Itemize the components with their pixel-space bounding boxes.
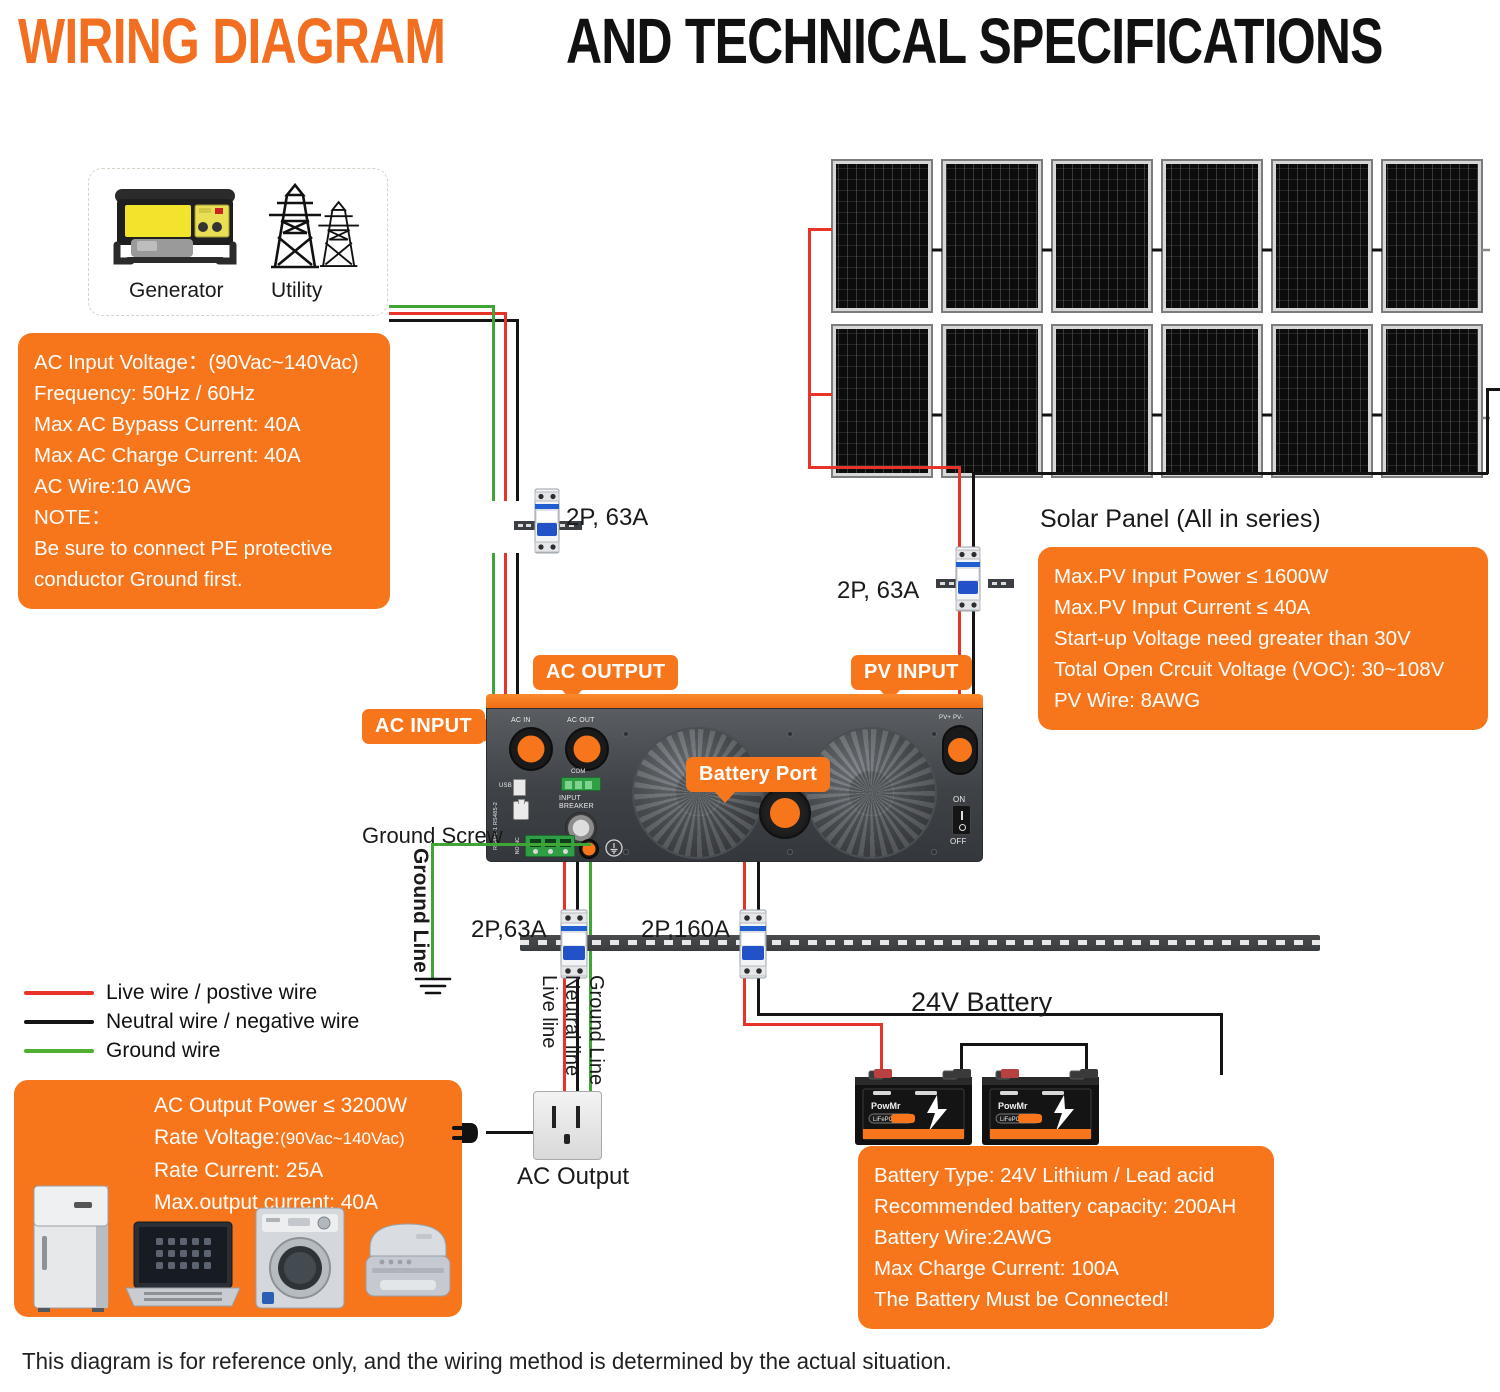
pv-spec-line-0: Max.PV Input Power ≤ 1600W [1054,561,1472,592]
legend-swatch-ground [24,1049,94,1053]
callout-ac-output: AC OUTPUT [533,655,678,690]
callout-pv-input-label: PV INPUT [864,661,959,683]
ac-output-spec-rate-voltage-label: Rate Voltage: [154,1126,280,1149]
solar-panel-array [830,158,1490,488]
svg-text:PowMr: PowMr [998,1101,1028,1111]
port-battery[interactable] [759,787,811,839]
ac-input-spec-line-0: AC Input Voltage：(90Vac~140Vac) [34,347,374,378]
ac-input-spec-line-5: NOTE： [34,502,374,533]
ac-input-spec-line-7: conductor Ground first. [34,564,374,595]
callout-pv-input: PV INPUT [851,655,972,690]
ac-output-socket[interactable] [533,1091,602,1160]
ac-input-spec-box: AC Input Voltage：(90Vac~140Vac) Frequenc… [18,333,390,609]
callout-ac-input: AC INPUT [362,709,485,744]
wire-ground-source [389,305,495,308]
battery-bank-label: 24V Battery [911,987,1052,1018]
ac-input-spec-line-4: AC Wire:10 AWG [34,471,374,502]
wire-pv-neg-drop [972,472,975,551]
wire-pv-neg-run [972,472,1488,475]
laptop-icon [122,1220,244,1312]
ground-screw-port[interactable] [579,839,599,859]
breaker-pv-label: 2P, 63A [837,577,919,605]
rs485-port-icon[interactable] [513,801,529,820]
ac-output-spec-line-0: AC Output Power ≤ 3200W [154,1090,407,1122]
legend-label-neutral: Neutral wire / negative wire [106,1010,359,1034]
wire-pv-pos-tap2 [808,393,832,396]
utility-label: Utility [271,279,322,303]
battery-terminal-link-1 [953,1069,971,1078]
port-ac-out[interactable] [565,727,609,771]
callout-ac-input-label: AC INPUT [375,715,472,737]
legend-row: Neutral wire / negative wire [24,1007,359,1036]
ac-output-spec-line-2: Rate Current: 25A [154,1155,407,1187]
generator-icon [111,183,239,269]
wire-pv-pos-bus [808,228,811,468]
ac-input-spec-line-6: Be sure to connect PE protective [34,533,374,564]
wire-battery-series [960,1043,1088,1046]
refrigerator-icon [30,1184,112,1312]
com-terminal[interactable] [561,777,601,791]
wire-batt-pos-drop [880,1023,883,1075]
legend-swatch-live [24,991,94,995]
pv-spec-box: Max.PV Input Power ≤ 1600W Max.PV Input … [1038,547,1488,730]
page-title: WIRING DIAGRAM AND TECHNICAL SPECIFICATI… [18,2,1488,80]
wire-ground-drop [492,305,495,501]
wire-neutral-source [389,319,519,322]
ac-output-spec-box: AC Output Power ≤ 3200W Rate Voltage:(90… [14,1080,462,1317]
port-ac-in-label: AC IN [511,717,531,724]
breaker-ac-output[interactable] [541,908,605,985]
pv-spec-line-2: Start-up Voltage need greater than 30V [1054,623,1472,654]
ac-input-spec-line-2: Max AC Bypass Current: 40A [34,409,374,440]
pv-spec-line-3: Total Open Crcuit Voltage (VOC): 30~108V [1054,654,1472,685]
battery-terminal-negative [1080,1069,1098,1078]
page-title-highlight: WIRING DIAGRAM [18,9,445,73]
usb-label: USB [499,783,512,789]
wire-batt-pos-run [743,1023,883,1026]
pv-terminal-label: PV+ PV- [939,715,963,721]
earth-ground-icon [605,839,623,857]
wire-neutral-drop [516,319,519,501]
battery-spec-line-3: Max Charge Current: 100A [874,1253,1258,1284]
disclaimer-text: This diagram is for reference only, and … [22,1348,952,1375]
callout-ac-output-label: AC OUTPUT [546,661,665,683]
svg-text:PowMr: PowMr [871,1101,901,1111]
relay-terminal-block[interactable] [525,835,575,857]
solar-panel-heading: Solar Panel (All in series) [1040,505,1321,534]
battery-spec-box: Battery Type: 24V Lithium / Lead acid Re… [858,1146,1274,1329]
ground-line-right-label: Ground Line [584,975,607,1085]
legend-row: Ground wire [24,1036,359,1065]
page-title-rest: AND TECHNICAL SPECIFICATIONS [566,9,1383,73]
earth-symbol-icon [410,975,456,1001]
port-ac-in[interactable] [509,727,553,771]
plug-icon [452,1119,486,1147]
ground-line-left-label: Ground Line [408,848,432,973]
switch-off-label: OFF [950,837,967,846]
wire-pv-pos-drop [958,466,961,551]
callout-battery-port-label: Battery Port [699,763,817,785]
port-pv[interactable] [942,725,978,775]
neutral-line-label: Neutral line [560,975,583,1076]
breaker-ac-main-label: 2P, 63A [566,504,648,532]
battery-spec-line-4: The Battery Must be Connected! [874,1284,1258,1315]
ac-input-spec-line-3: Max AC Charge Current: 40A [34,440,374,471]
legend-row: Live wire / postive wire [24,978,359,1007]
wire-pv-pos-tap1 [808,228,832,231]
cooling-fan-left [632,727,764,859]
breaker-battery-label: 2P,160A [641,916,730,944]
rice-cooker-icon [358,1212,458,1312]
callout-battery-port: Battery Port [686,757,830,792]
breaker-pv[interactable] [930,545,1040,620]
ac-output-socket-label: AC Output [517,1163,629,1191]
battery-spec-line-0: Battery Type: 24V Lithium / Lead acid [874,1160,1258,1191]
breaker-ac-output-label: 2P,63A [471,916,547,944]
wire-legend: Live wire / postive wire Neutral wire / … [24,978,359,1065]
wire-ground-screw-run [431,843,591,846]
utility-tower-icon [257,181,367,271]
cooling-fan-right [805,727,937,859]
power-switch[interactable] [952,805,971,835]
battery-unit-2: PowMr LiFePO4 [980,1069,1101,1147]
battery-terminal-link-2 [1001,1069,1019,1078]
wire-pv-neg-bus [1486,388,1489,474]
din-rail [520,935,1320,951]
wire-live-drop [504,312,507,501]
wire-pv-pos-run [808,466,960,469]
battery-unit-1: PowMr LiFePO4 [853,1069,974,1147]
legend-label-live: Live wire / postive wire [106,981,317,1005]
washing-machine-icon [252,1206,348,1312]
pv-spec-line-1: Max.PV Input Current ≤ 40A [1054,592,1472,623]
battery-terminal-positive [874,1069,892,1078]
ac-output-spec-rate-voltage-value: (90Vac~140Vac) [280,1129,405,1148]
battery-spec-line-1: Recommended battery capacity: 200AH [874,1191,1258,1222]
switch-on-label: ON [953,795,965,804]
usb-port-icon[interactable] [513,779,526,796]
live-line-label: Live line [537,975,560,1048]
ac-input-spec-line-1: Frequency: 50Hz / 60Hz [34,378,374,409]
wire-live-source [389,312,507,315]
legend-label-ground: Ground wire [106,1039,220,1063]
legend-swatch-neutral [24,1020,94,1024]
generator-label: Generator [129,279,224,303]
ac-source-box: Generator Utility [88,168,388,316]
pv-spec-line-4: PV Wire: 8AWG [1054,685,1472,716]
com-label: COM [571,769,586,775]
port-ac-out-label: AC OUT [567,717,595,724]
input-breaker-label: INPUTBREAKER [559,795,594,811]
battery-spec-line-2: Battery Wire:2AWG [874,1222,1258,1253]
wire-batt-neg-drop [1220,1013,1223,1075]
